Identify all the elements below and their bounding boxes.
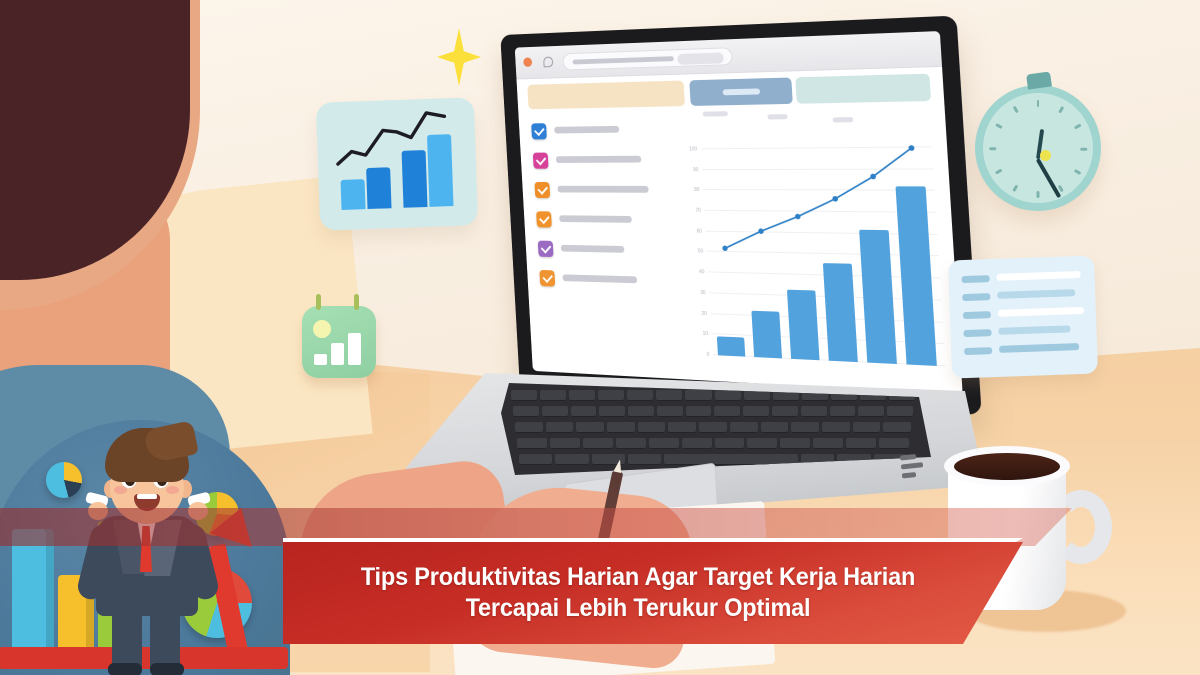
keyboard-key[interactable] xyxy=(515,422,543,433)
doc-line xyxy=(999,343,1079,353)
checkbox-checked-icon[interactable] xyxy=(538,241,554,257)
checkbox-checked-icon[interactable] xyxy=(534,182,550,198)
clock-tick xyxy=(1037,100,1040,107)
keyboard-key[interactable] xyxy=(853,422,881,433)
keyboard-row xyxy=(517,438,909,449)
doc-line xyxy=(963,329,991,337)
keyboard-key[interactable] xyxy=(715,390,741,401)
list-item[interactable] xyxy=(534,179,670,209)
keyboard-key[interactable] xyxy=(780,438,810,449)
checkbox-checked-icon[interactable] xyxy=(536,211,552,227)
address-pill xyxy=(677,52,724,64)
keyboard-key[interactable] xyxy=(801,406,827,417)
clock-tick xyxy=(995,123,1002,129)
y-tick-label: 50 xyxy=(682,248,703,254)
address-text xyxy=(573,56,674,64)
chart-bar xyxy=(751,311,782,358)
clock-tick xyxy=(1037,191,1040,198)
keyboard-key[interactable] xyxy=(668,422,696,433)
keyboard-key[interactable] xyxy=(513,406,539,417)
checkbox-checked-icon[interactable] xyxy=(533,153,549,169)
y-tick-label: 40 xyxy=(683,269,704,275)
coffee-surface xyxy=(954,453,1060,480)
keyboard-key[interactable] xyxy=(685,390,711,401)
keyboard-key[interactable] xyxy=(714,406,740,417)
doc-line xyxy=(998,307,1084,317)
y-tick-label: 100 xyxy=(676,146,697,152)
mascot-shoe xyxy=(108,663,142,675)
list-item-label xyxy=(557,186,648,193)
keyboard-key[interactable] xyxy=(761,422,789,433)
calendar-chart-icon xyxy=(302,306,376,378)
clock-tick xyxy=(1012,106,1018,113)
list-item[interactable] xyxy=(539,267,675,301)
chart-bar xyxy=(823,263,858,362)
doc-line xyxy=(964,347,992,355)
tab-active[interactable] xyxy=(689,77,793,105)
calendar-bar xyxy=(348,333,361,365)
keyboard-key[interactable] xyxy=(813,438,843,449)
keyboard-key[interactable] xyxy=(517,438,547,449)
y-tick-label: 80 xyxy=(678,187,699,193)
keyboard-key[interactable] xyxy=(830,406,856,417)
keyboard-key[interactable] xyxy=(628,406,654,417)
keyboard-key[interactable] xyxy=(747,438,777,449)
task-checklist xyxy=(531,118,676,301)
keyboard-key[interactable] xyxy=(858,406,884,417)
clock-tick xyxy=(1074,123,1081,129)
list-item-label xyxy=(556,156,642,163)
banner-accent-rule xyxy=(283,538,1023,542)
tab-reports[interactable] xyxy=(795,74,931,104)
page-title: Tips Produktivitas Harian Agar Target Ke… xyxy=(337,562,939,625)
doc-line xyxy=(997,289,1075,299)
list-item[interactable] xyxy=(533,149,669,179)
tab-active-label xyxy=(723,88,761,95)
keyboard-key[interactable] xyxy=(657,406,683,417)
keyboard-row xyxy=(515,422,911,433)
keyboard-key[interactable] xyxy=(822,422,850,433)
mascot-blush xyxy=(166,486,179,494)
keyboard-key[interactable] xyxy=(607,422,635,433)
clock-tick xyxy=(989,148,996,151)
clock-face xyxy=(983,93,1093,203)
doc-line xyxy=(962,275,990,283)
chart-header-line xyxy=(703,111,728,116)
checkbox-checked-icon[interactable] xyxy=(531,123,547,139)
clock-hanger xyxy=(1026,71,1052,89)
mascot-blush xyxy=(114,486,127,494)
keyboard-key[interactable] xyxy=(628,454,661,465)
keyboard-key[interactable] xyxy=(664,454,797,465)
calendar-bar xyxy=(331,343,344,365)
calendar-dot xyxy=(313,320,331,338)
keyboard-key[interactable] xyxy=(616,438,646,449)
floating-card-bar xyxy=(366,167,391,209)
chart-header-line xyxy=(832,117,853,122)
keyboard-key[interactable] xyxy=(519,454,552,465)
chart-bar xyxy=(717,337,745,357)
keyboard-key[interactable] xyxy=(598,390,624,401)
mascot-scene xyxy=(0,420,320,675)
floating-card-bar xyxy=(341,179,366,210)
clock-icon xyxy=(975,85,1101,211)
browser-chrome xyxy=(515,31,942,79)
keyboard-key[interactable] xyxy=(791,422,819,433)
list-item-label xyxy=(561,245,625,253)
chart-bar xyxy=(787,289,820,360)
doc-line xyxy=(996,271,1080,281)
doc-line xyxy=(963,311,991,319)
list-item[interactable] xyxy=(538,238,674,271)
keyboard-key[interactable] xyxy=(599,406,625,417)
browser-address-bar[interactable] xyxy=(562,47,732,70)
keyboard-key[interactable] xyxy=(540,390,566,401)
laptop-lid: 0102030405060708090100 xyxy=(500,16,981,416)
keyboard-key[interactable] xyxy=(699,422,727,433)
y-tick-label: 10 xyxy=(687,330,708,337)
clock-tick xyxy=(1058,106,1064,113)
chart-header-line xyxy=(767,114,787,119)
mascot-bar xyxy=(12,529,54,649)
keyboard-key[interactable] xyxy=(550,438,580,449)
keyboard-key[interactable] xyxy=(656,390,682,401)
tab-overview[interactable] xyxy=(527,80,685,109)
keyboard-key[interactable] xyxy=(846,438,876,449)
doc-line xyxy=(962,293,990,301)
keyboard-key[interactable] xyxy=(511,390,537,401)
keyboard-key[interactable] xyxy=(715,438,745,449)
illustration-canvas: 0102030405060708090100 xyxy=(0,0,1200,675)
keyboard-row xyxy=(513,406,913,417)
calendar-peg xyxy=(354,294,359,310)
browser-home-icon[interactable] xyxy=(543,57,553,68)
doc-line xyxy=(998,325,1070,335)
mascot-businessman xyxy=(88,428,208,673)
list-item-label xyxy=(559,215,632,223)
chart-trendline xyxy=(700,122,940,265)
app-tab-strip xyxy=(527,74,931,110)
y-tick-label: 90 xyxy=(677,167,698,173)
y-tick-label: 30 xyxy=(684,289,705,296)
laptop-screen: 0102030405060708090100 xyxy=(515,31,963,395)
calendar-peg xyxy=(316,294,321,310)
keyboard-key[interactable] xyxy=(583,438,613,449)
keyboard-key[interactable] xyxy=(883,422,911,433)
keyboard-key[interactable] xyxy=(555,454,588,465)
clock-tick xyxy=(995,169,1002,175)
keyboard-key[interactable] xyxy=(627,390,653,401)
keyboard-key[interactable] xyxy=(649,438,679,449)
list-item-label xyxy=(562,274,637,283)
y-tick-label: 20 xyxy=(686,310,707,317)
keyboard-key[interactable] xyxy=(546,422,574,433)
mascot-shoe xyxy=(150,663,184,675)
browser-menu-dot-icon[interactable] xyxy=(523,57,532,67)
keyboard-key[interactable] xyxy=(772,406,798,417)
pie-chart-small-icon xyxy=(46,462,82,498)
keyboard-key[interactable] xyxy=(576,422,604,433)
checkbox-checked-icon[interactable] xyxy=(539,270,555,287)
title-banner: Tips Produktivitas Harian Agar Target Ke… xyxy=(283,542,1023,644)
clock-minute-hand xyxy=(1036,158,1061,198)
keyboard-key[interactable] xyxy=(638,422,666,433)
clock-tick xyxy=(1074,169,1081,175)
y-tick-label: 0 xyxy=(688,351,709,358)
keyboard-key[interactable] xyxy=(887,406,913,417)
clock-tick xyxy=(1012,185,1018,192)
keyboard-key[interactable] xyxy=(542,406,568,417)
keyboard-key[interactable] xyxy=(686,406,712,417)
keyboard-key[interactable] xyxy=(743,406,769,417)
y-tick-label: 70 xyxy=(680,208,701,214)
laptop: 0102030405060708090100 xyxy=(405,25,985,525)
y-tick-label: 60 xyxy=(681,228,702,234)
keyboard-key[interactable] xyxy=(569,390,595,401)
list-item-label xyxy=(554,126,619,134)
calendar-bar xyxy=(314,354,327,365)
clock-center-pin xyxy=(1040,150,1051,161)
clock-tick xyxy=(1080,148,1087,151)
document-card-icon xyxy=(948,255,1098,378)
keyboard-key[interactable] xyxy=(730,422,758,433)
list-item[interactable] xyxy=(536,208,672,240)
dashboard-chart: 0102030405060708090100 xyxy=(674,107,947,381)
keyboard-key[interactable] xyxy=(879,438,909,449)
list-item[interactable] xyxy=(531,118,667,150)
keyboard-key[interactable] xyxy=(571,406,597,417)
keyboard-key[interactable] xyxy=(682,438,712,449)
